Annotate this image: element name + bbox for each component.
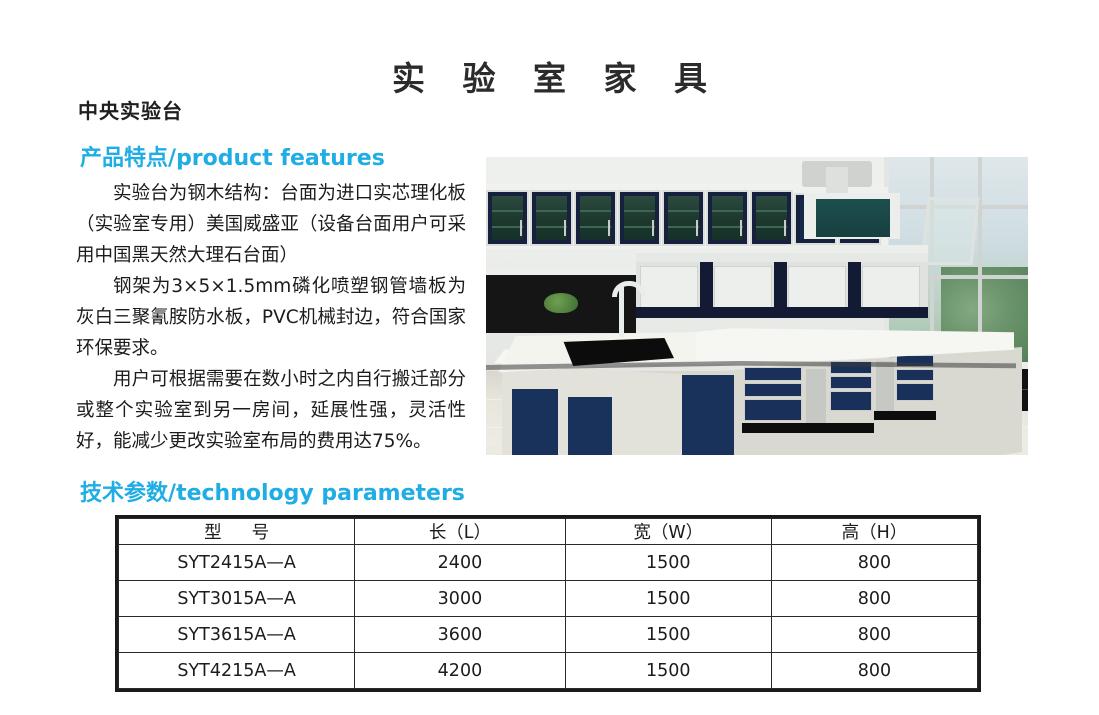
photo-upper-cabinet	[662, 190, 705, 246]
cell-model: SYT3615A—A	[119, 617, 355, 653]
photo-drawer	[744, 399, 802, 421]
table-header-height: 高（H）	[771, 519, 977, 545]
features-body-copy: 实验台为钢木结构：台面为进口实芯理化板（实验室专用）美国威盛亚（设备台面用户可采…	[76, 178, 466, 457]
photo-knee-panel	[876, 361, 894, 413]
photo-drawer	[744, 383, 802, 397]
features-paragraph-3: 用户可根据需要在数小时之内自行搬迁部分或整个实验室到另一房间，延展性强，灵活性好…	[76, 364, 466, 457]
features-paragraph-2: 钢架为3×5×1.5mm磷化喷塑钢管墙板为灰白三聚氰胺防水板，PVC机械封边，符…	[76, 271, 466, 364]
parameters-table-wrapper: 型号 长（L） 宽（W） 高（H） SYT2415A—A 2400 1500 8…	[115, 515, 981, 692]
table-header-row: 型号 长（L） 宽（W） 高（H）	[119, 519, 978, 545]
cell-length: 3000	[355, 581, 565, 617]
table-header-length: 长（L）	[355, 519, 565, 545]
photo-drawer	[744, 367, 802, 381]
section-heading-features: 产品特点/product features	[80, 140, 385, 172]
cell-model: SYT3015A—A	[119, 581, 355, 617]
cell-length: 2400	[355, 545, 565, 581]
photo-cabinet-door	[568, 397, 612, 455]
cell-length: 4200	[355, 653, 565, 689]
photo-drawer	[830, 391, 872, 411]
photo-plant	[544, 293, 578, 313]
photo-fume-hood-glass	[816, 199, 890, 237]
cell-height: 800	[771, 581, 977, 617]
cell-height: 800	[771, 545, 977, 581]
table-header-model: 型号	[119, 519, 355, 545]
cell-length: 3600	[355, 617, 565, 653]
photo-cabinet-door	[682, 375, 734, 455]
table-header-width: 宽（W）	[565, 519, 771, 545]
photo-toe-kick	[874, 411, 936, 420]
photo-upper-cabinet	[530, 190, 573, 246]
table-row: SYT3015A—A 3000 1500 800	[119, 581, 978, 617]
parameters-heading-cn: 技术参数	[80, 481, 168, 506]
photo-upper-cabinet	[486, 190, 529, 246]
features-paragraph-1: 实验台为钢木结构：台面为进口实芯理化板（实验室专用）美国威盛亚（设备台面用户可采…	[76, 178, 466, 271]
photo-reagent-shelf-body	[636, 262, 928, 318]
photo-reagent-shelf-top	[636, 253, 928, 262]
photo-knee-panel	[806, 369, 826, 427]
photo-window-sash	[920, 197, 979, 265]
photo-upper-cabinet	[706, 190, 749, 246]
features-heading-cn: 产品特点	[80, 146, 168, 171]
parameters-heading-en: technology parameters	[176, 481, 465, 506]
brochure-page: 实 验 室 家 具 中央实验台 产品特点/product features 实验…	[0, 0, 1099, 715]
photo-cabinet-door	[512, 389, 558, 455]
cell-height: 800	[771, 653, 977, 689]
table-row: SYT2415A—A 2400 1500 800	[119, 545, 978, 581]
photo-toe-kick	[742, 423, 874, 433]
photo-drawer	[896, 383, 934, 401]
table-row: SYT3615A—A 3600 1500 800	[119, 617, 978, 653]
features-heading-separator: /	[168, 146, 176, 171]
section-heading-parameters: 技术参数/technology parameters	[80, 475, 465, 507]
product-subtitle: 中央实验台	[78, 95, 183, 124]
cell-model: SYT2415A—A	[119, 545, 355, 581]
cell-model: SYT4215A—A	[119, 653, 355, 689]
photo-upper-cabinet	[574, 190, 617, 246]
cell-width: 1500	[565, 653, 771, 689]
laboratory-bench-photo	[486, 157, 1028, 455]
table-header-model-char1: 型	[204, 523, 222, 543]
cell-width: 1500	[565, 581, 771, 617]
features-heading-en: product features	[176, 146, 385, 171]
table-row: SYT4215A—A 4200 1500 800	[119, 653, 978, 689]
photo-drawer	[830, 376, 872, 389]
photo-drawer	[896, 369, 934, 381]
cell-width: 1500	[565, 617, 771, 653]
parameters-heading-separator: /	[168, 481, 176, 506]
photo-upper-cabinet	[618, 190, 661, 246]
cell-height: 800	[771, 617, 977, 653]
table-header-model-char2: 号	[252, 523, 270, 543]
page-title: 实 验 室 家 具	[0, 52, 1099, 100]
photo-window-mullion	[978, 157, 982, 362]
cell-width: 1500	[565, 545, 771, 581]
parameters-table: 型号 长（L） 宽（W） 高（H） SYT2415A—A 2400 1500 8…	[118, 518, 978, 689]
photo-upper-cabinet	[750, 190, 793, 246]
